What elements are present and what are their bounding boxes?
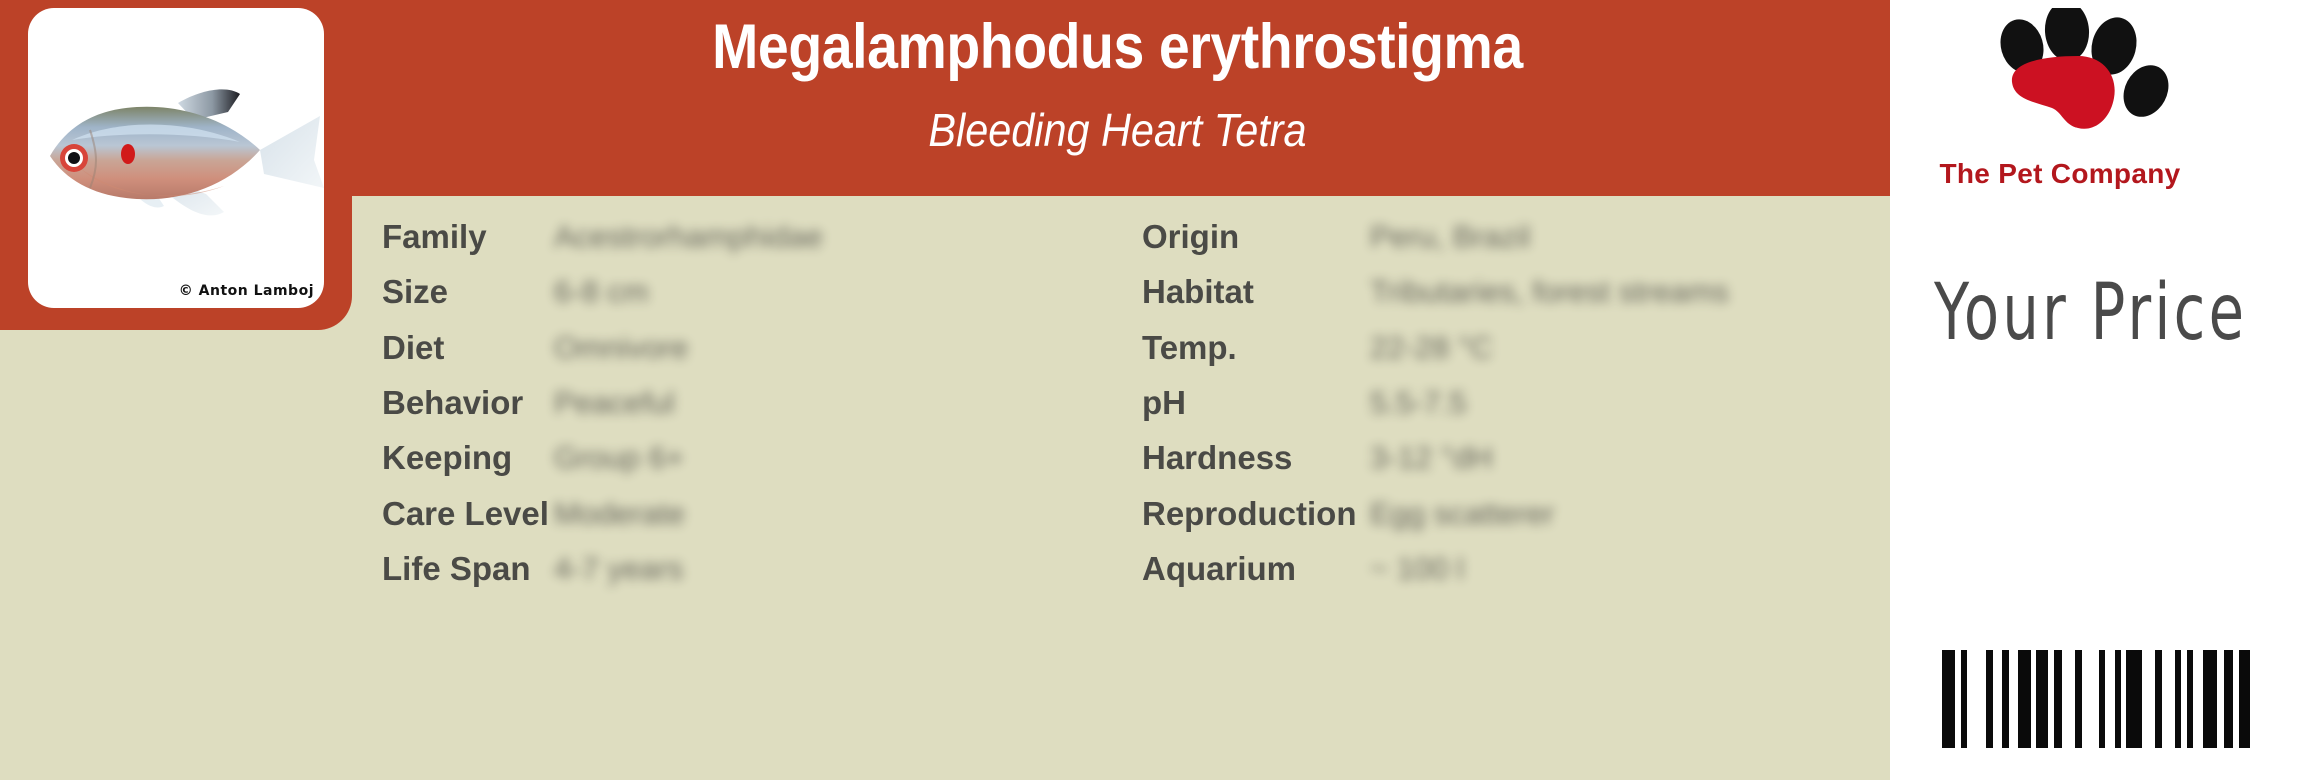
- spec-value-hardness: 3-12 °dH: [1370, 440, 1493, 476]
- barcode-bar: [2155, 650, 2162, 748]
- spec-label-aquarium: Aquarium: [1142, 550, 1370, 588]
- paw-print-icon: [1986, 8, 2176, 143]
- photo-credit: © Anton Lamboj: [179, 283, 314, 299]
- barcode-bar: [2203, 650, 2217, 748]
- barcode-space: [2009, 650, 2018, 748]
- common-name: Bleeding Heart Tetra: [422, 107, 1813, 153]
- barcode-bar: [2018, 650, 2031, 748]
- spec-value-origin: Peru, Brazil: [1370, 219, 1530, 255]
- spec-value-reproduction: Egg scatterer: [1370, 496, 1554, 532]
- spec-value-aquarium: ~ 100 l: [1370, 551, 1464, 587]
- spec-label-hardness: Hardness: [1142, 439, 1370, 477]
- spec-label-origin: Origin: [1142, 218, 1370, 256]
- barcode-space: [2062, 650, 2075, 748]
- price-panel: The Pet Company Your Price: [1890, 0, 2303, 780]
- spec-value-temperature: 22-28 °C: [1370, 330, 1493, 366]
- spec-value-behavior: Peaceful: [554, 385, 675, 421]
- barcode-space: [2082, 650, 2099, 748]
- barcode: [1942, 650, 2250, 748]
- spec-value-family: Acestrorhamphidae: [554, 219, 823, 255]
- barcode-bar: [2126, 650, 2142, 748]
- spec-label-ph: pH: [1142, 384, 1370, 422]
- barcode-space: [2105, 650, 2115, 748]
- shelf-label-card: Megalamphodus erythrostigma Bleeding Hea…: [0, 0, 2303, 780]
- brand-name: The Pet Company: [1890, 158, 2230, 190]
- spec-value-habitat: Tributaries, forest streams: [1370, 274, 1729, 310]
- spec-row-life-span: Life Span 4-7 years: [382, 528, 1142, 609]
- barcode-space: [2142, 650, 2155, 748]
- barcode-space: [2217, 650, 2224, 748]
- barcode-bar: [2224, 650, 2233, 748]
- spec-label-family: Family: [382, 218, 554, 256]
- spec-row-aquarium: Aquarium ~ 100 l: [1142, 528, 1890, 609]
- species-photo-frame: © Anton Lamboj: [0, 0, 352, 330]
- barcode-bar: [2036, 650, 2048, 748]
- brand-logo: The Pet Company: [1890, 6, 2303, 196]
- barcode-bar: [1942, 650, 1955, 748]
- spec-label-reproduction: Reproduction: [1142, 495, 1370, 533]
- spec-label-life-span: Life Span: [382, 550, 554, 588]
- spec-label-care-level: Care Level: [382, 495, 554, 533]
- spec-value-care-level: Moderate: [554, 496, 685, 532]
- barcode-bar: [1986, 650, 1993, 748]
- spec-label-diet: Diet: [382, 329, 554, 367]
- spec-label-behavior: Behavior: [382, 384, 554, 422]
- spec-label-size: Size: [382, 273, 554, 311]
- price-label: Your Price: [1934, 268, 2247, 358]
- spec-value-diet: Omnivore: [554, 330, 688, 366]
- barcode-space: [2162, 650, 2175, 748]
- fish-illustration: [28, 8, 324, 308]
- barcode-bar: [2075, 650, 2082, 748]
- scientific-name: Megalamphodus erythrostigma: [438, 16, 1798, 79]
- barcode-bar: [2239, 650, 2250, 748]
- species-info-card: Megalamphodus erythrostigma Bleeding Hea…: [0, 0, 1890, 780]
- spec-label-temperature: Temp.: [1142, 329, 1370, 367]
- barcode-bar: [2002, 650, 2009, 748]
- barcode-space: [1993, 650, 2002, 748]
- spec-label-habitat: Habitat: [1142, 273, 1370, 311]
- spec-value-life-span: 4-7 years: [554, 551, 683, 587]
- barcode-space: [2193, 650, 2203, 748]
- spec-value-size: 6-8 cm: [554, 274, 649, 310]
- barcode-space: [1967, 650, 1986, 748]
- spec-value-keeping: Group 6+: [554, 440, 684, 476]
- spec-label-keeping: Keeping: [382, 439, 554, 477]
- spec-value-ph: 5.5-7.5: [1370, 385, 1467, 421]
- barcode-bar: [2054, 650, 2062, 748]
- species-photo: © Anton Lamboj: [28, 8, 324, 308]
